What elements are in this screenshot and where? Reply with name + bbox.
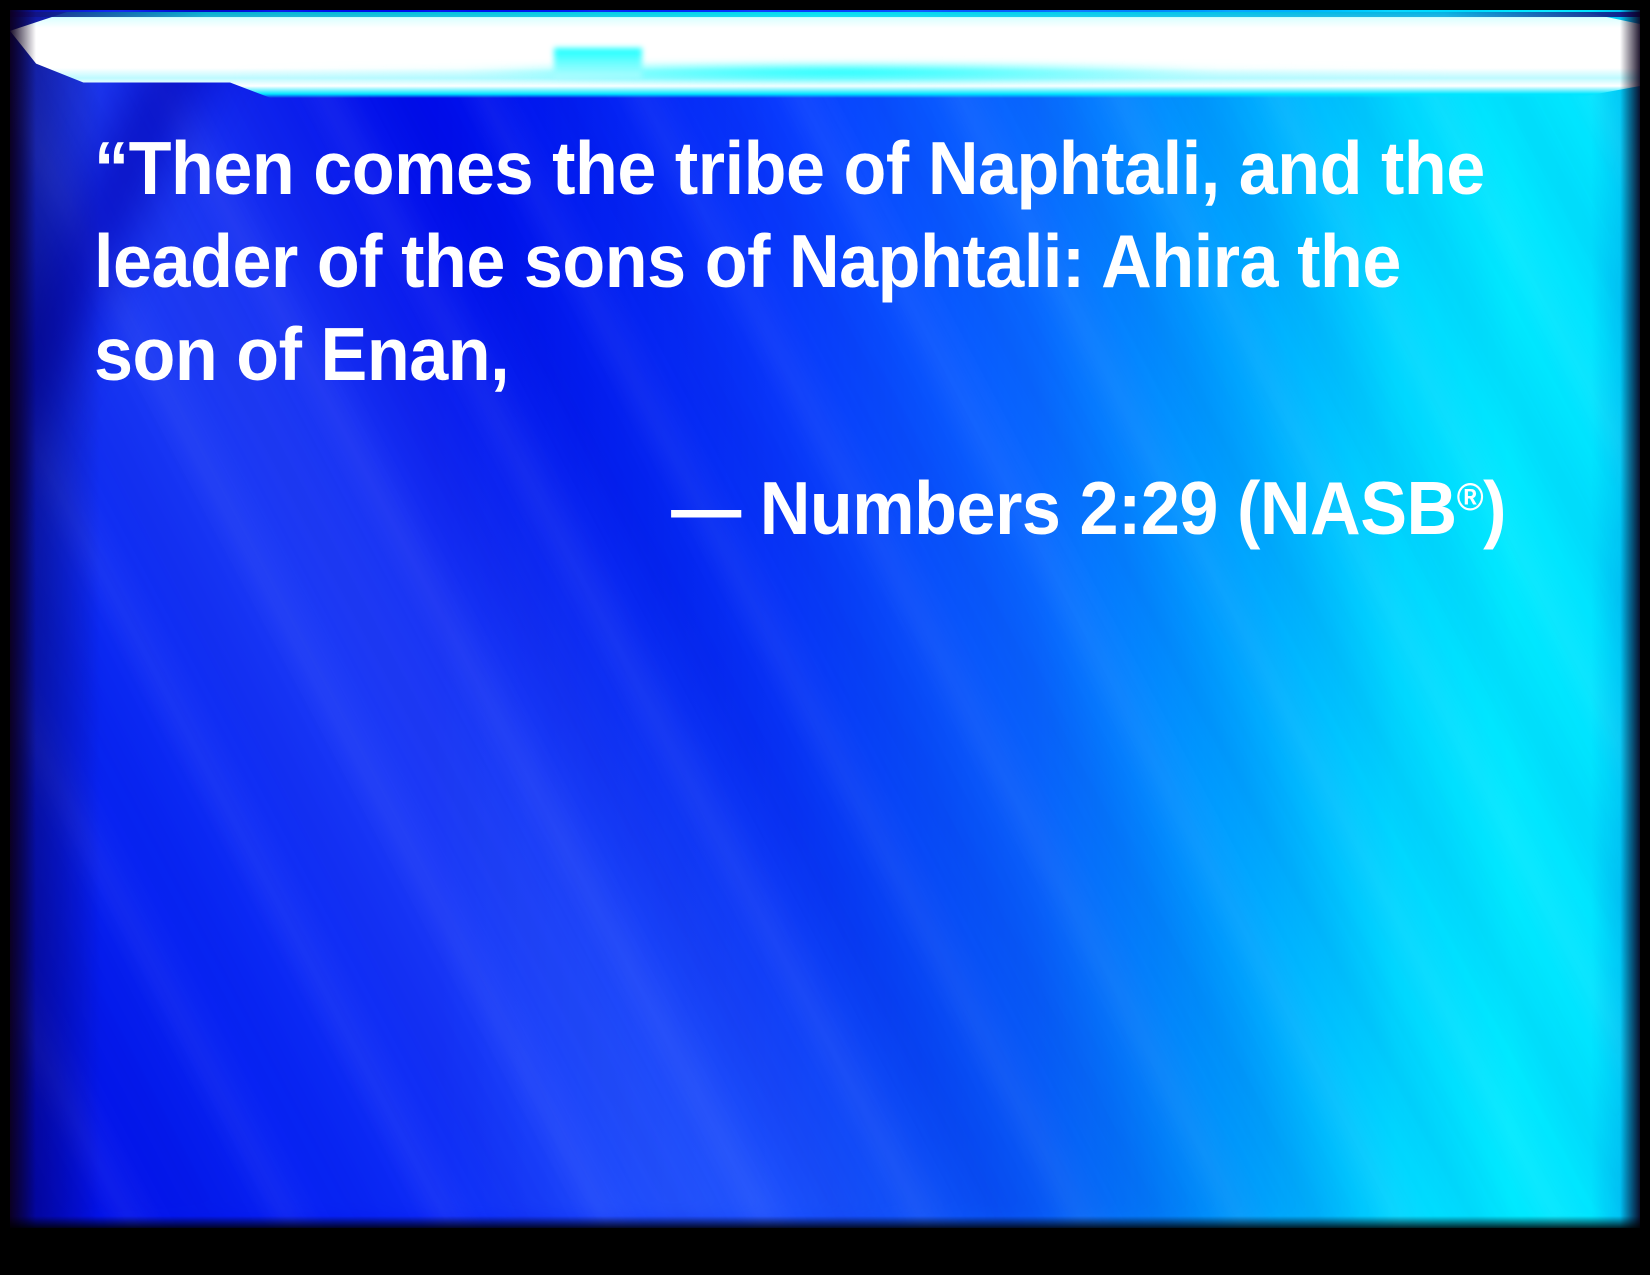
glow-bar-notch <box>554 48 642 78</box>
registered-trademark-icon: ® <box>1457 476 1483 519</box>
glow-bar-top-edge <box>10 12 1640 17</box>
top-glow-bar <box>10 12 1640 98</box>
verse-attribution: — Numbers 2:29 (NASB®) <box>186 451 1506 555</box>
verse-line-2: leader of the sons of Naphtali: Ahira th… <box>94 215 1414 308</box>
verse-line-3: son of Enan, <box>94 308 1414 401</box>
canvas-edge-bottom <box>10 1216 1640 1228</box>
attribution-em-dash: — <box>671 466 741 550</box>
attribution-reference: Numbers 2:29 <box>760 466 1218 550</box>
scripture-slide: “Then comes the tribe of Naphtali, and t… <box>0 0 1650 1275</box>
attribution-translation-open: (NASB <box>1237 466 1457 550</box>
verse-text-block: “Then comes the tribe of Naphtali, and t… <box>94 122 1506 555</box>
slide-canvas: “Then comes the tribe of Naphtali, and t… <box>10 10 1640 1228</box>
glow-bar-body <box>10 12 1640 98</box>
canvas-edge-left <box>10 10 36 1228</box>
verse-line-1: “Then comes the tribe of Naphtali, and t… <box>94 122 1414 215</box>
canvas-edge-right <box>1620 10 1640 1228</box>
attribution-translation-close: ) <box>1483 466 1506 550</box>
